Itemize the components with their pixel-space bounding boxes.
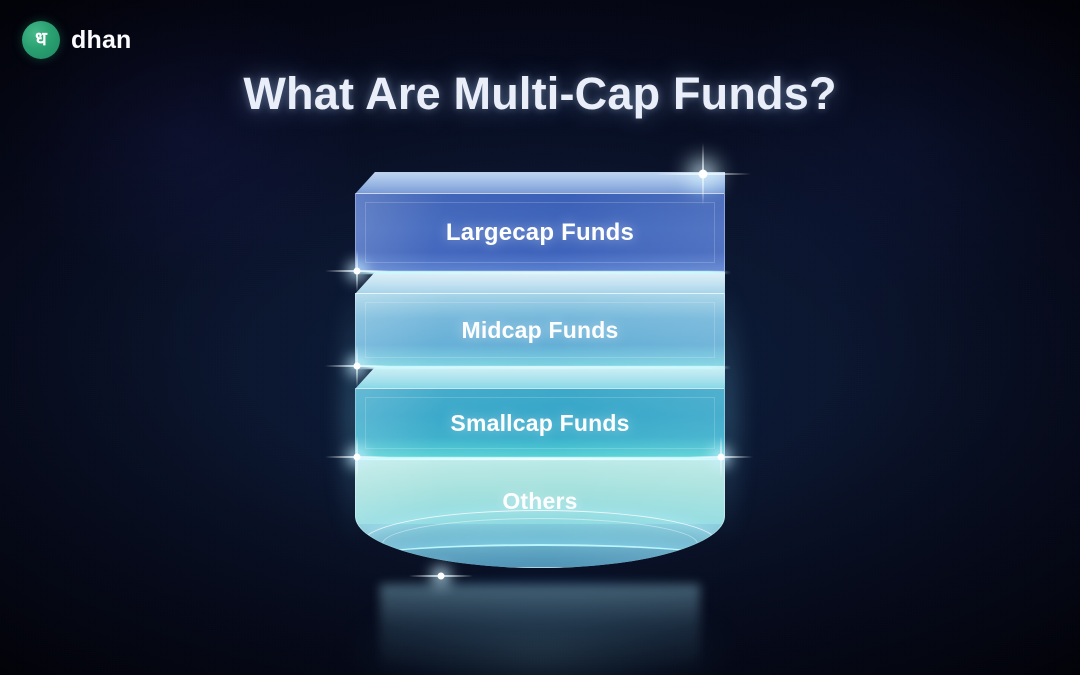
layer-divider-glow (349, 271, 731, 274)
brand-name: dhan (71, 26, 132, 55)
layer-divider-glow (349, 457, 731, 460)
stack-layer-label: Midcap Funds (355, 293, 725, 367)
base-bottom-rim (360, 544, 720, 568)
stack-layer-label: Others (355, 458, 725, 544)
dhan-logo-icon: ध (22, 21, 60, 59)
layer-divider-glow (349, 366, 731, 369)
stack-reflection (380, 584, 700, 675)
stack-layer-label: Smallcap Funds (355, 388, 725, 458)
page-title: What Are Multi-Cap Funds? (0, 68, 1080, 120)
stack-layer-label: Largecap Funds (355, 193, 725, 272)
layer-top-face (355, 172, 725, 194)
layer-top-face (355, 367, 725, 389)
multi-cap-fund-composition-stack: Largecap Funds Midcap Funds Smallcap Fun… (355, 172, 725, 592)
slide-canvas: ध dhan What Are Multi-Cap Funds? Largeca… (0, 0, 1080, 675)
brand-logo[interactable]: ध dhan (22, 21, 132, 59)
layer-top-face (355, 272, 725, 294)
